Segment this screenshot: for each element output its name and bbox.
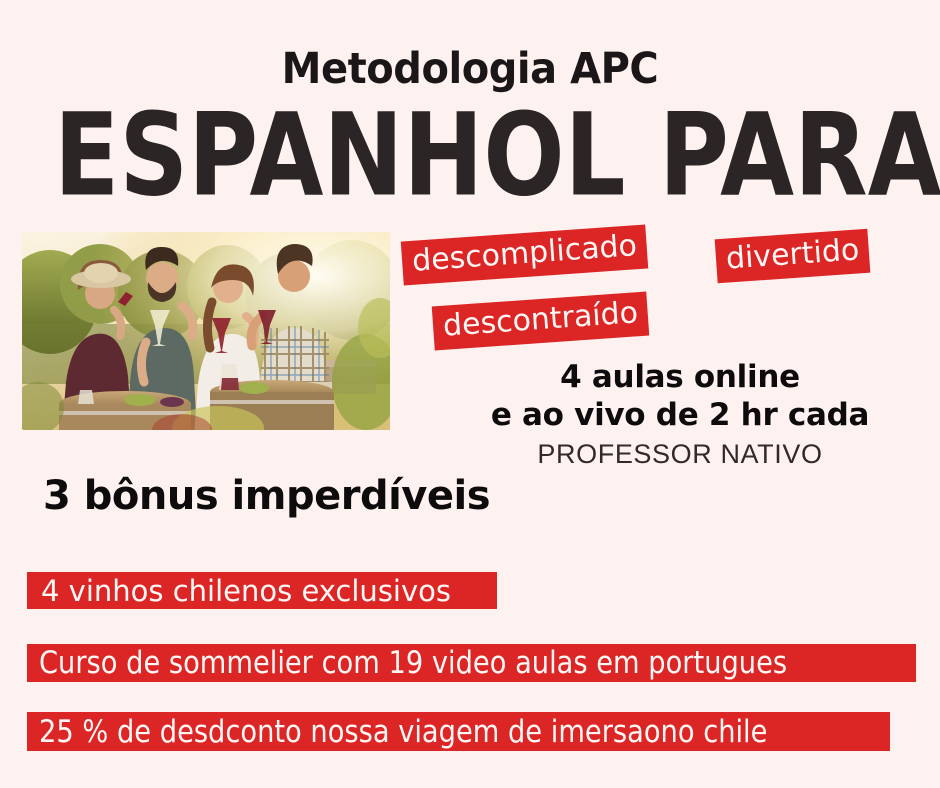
bonus-item-3: 25 % de desdconto nossa viagem de imersa… (27, 712, 890, 751)
tag-descontraido: descontraído (432, 292, 650, 351)
eyebrow-text: Metodologia APC (33, 44, 907, 94)
page-title: ESPANHOL PARA VIAGEM (54, 99, 886, 213)
bonus-item-2: Curso de sommelier com 19 video aulas em… (27, 644, 916, 682)
detail-line-1: 4 aulas online (440, 358, 920, 396)
course-details: 4 aulas online e ao vivo de 2 hr cada PR… (440, 358, 920, 470)
bonus-heading: 3 bônus imperdíveis (43, 473, 490, 519)
detail-line-2: e ao vivo de 2 hr cada (440, 396, 920, 434)
bonus-item-2-label: Curso de sommelier com 19 video aulas em… (39, 645, 787, 681)
bonus-item-3-label: 25 % de desdconto nossa viagem de imersa… (39, 714, 767, 750)
tag-descomplicado: descomplicado (401, 225, 649, 286)
promotional-poster: Metodologia APC ESPANHOL PARA VIAGEM (0, 0, 940, 788)
tag-divertido: divertido (715, 229, 871, 284)
photo-artwork (22, 232, 390, 430)
bonus-item-1: 4 vinhos chilenos exclusivos (27, 572, 497, 609)
detail-subtitle: PROFESSOR NATIVO (440, 438, 920, 470)
bonus-item-1-label: 4 vinhos chilenos exclusivos (41, 574, 451, 608)
vineyard-wine-tasting-photo (22, 232, 390, 430)
